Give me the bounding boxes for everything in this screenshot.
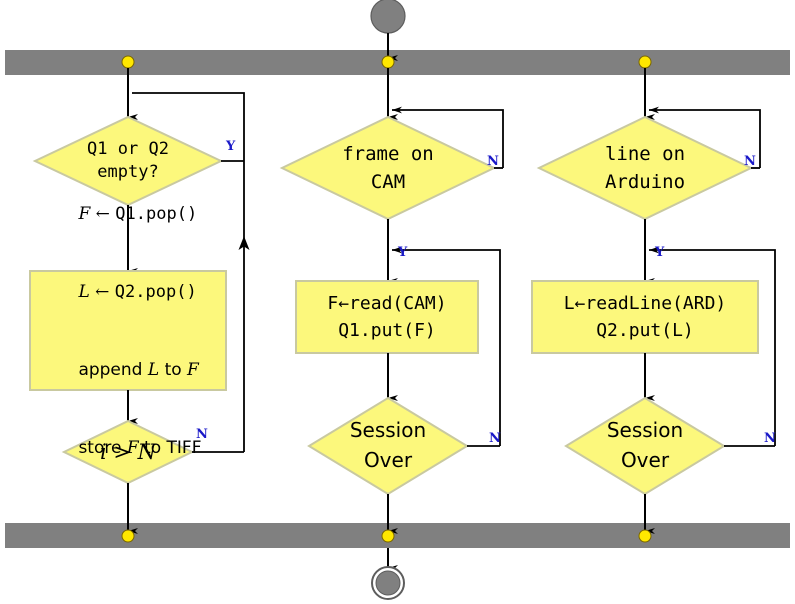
decision-i-gt-n <box>64 421 192 483</box>
join-dot-writer <box>122 530 134 542</box>
label-frame-on-cam-yes: Y <box>398 246 407 259</box>
decision-session-over-ard <box>566 398 724 494</box>
label-i-gt-n-no: N <box>196 428 208 441</box>
start-node <box>371 0 405 33</box>
process-read-arduino <box>532 281 758 353</box>
decision-line-on-arduino <box>539 117 751 219</box>
label-line-on-arduino-no: N <box>744 155 756 168</box>
flowchart-canvas: Q1 or Q2 empty? F ← Q1.pop() L ← Q2.pop(… <box>0 0 795 604</box>
decision-session-over-cam <box>309 398 467 494</box>
label-frame-on-cam-no: N <box>487 155 499 168</box>
fork-dot-camera <box>382 56 394 68</box>
fork-dot-arduino <box>639 56 651 68</box>
label-session-over-ard-no: N <box>764 432 776 445</box>
decision-queues-empty <box>35 117 221 205</box>
join-dot-arduino <box>639 530 651 542</box>
flowchart-svg <box>0 0 795 604</box>
process-read-cam <box>296 281 478 353</box>
process-pop-and-store <box>30 271 226 390</box>
label-line-on-arduino-yes: Y <box>655 246 664 259</box>
label-queues-empty-yes: Y <box>226 140 235 153</box>
join-dot-camera <box>382 530 394 542</box>
fork-dot-writer <box>122 56 134 68</box>
decision-frame-on-cam <box>282 117 494 219</box>
end-node-inner-disc <box>376 571 400 595</box>
label-session-over-cam-no: N <box>489 432 501 445</box>
